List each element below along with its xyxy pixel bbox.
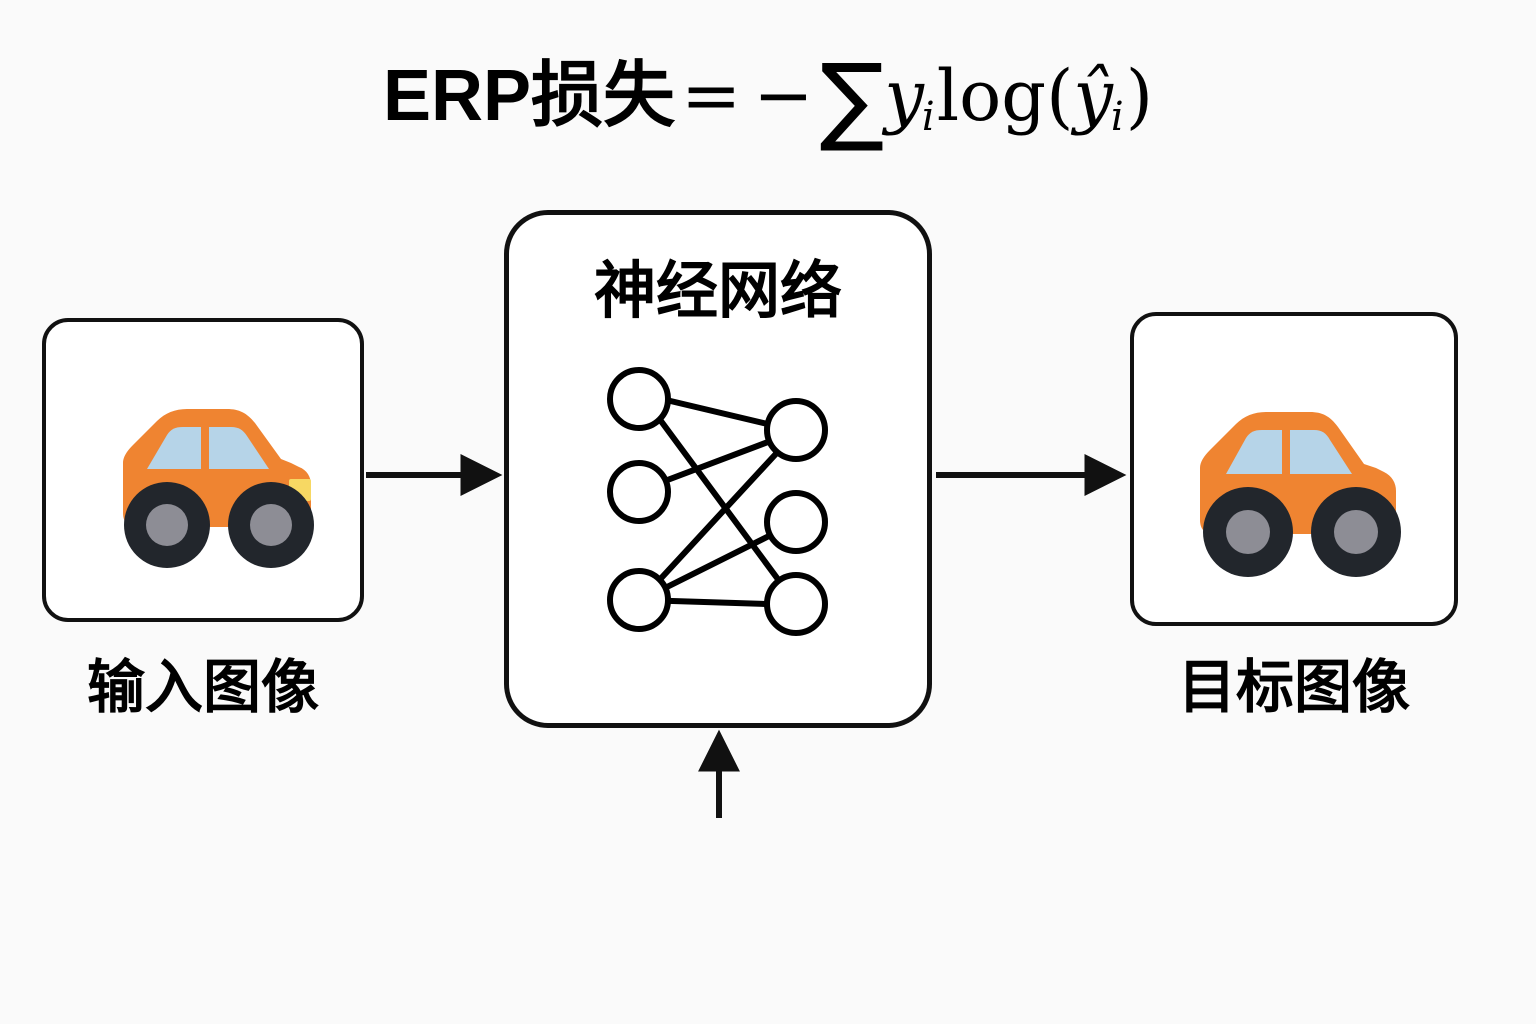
formula-term-y-subscript: i [922, 94, 935, 140]
formula-log: log [937, 55, 1046, 137]
formula-minus: − [747, 53, 819, 137]
input-image-caption: 输入图像 [42, 640, 364, 724]
formula-term-yhat-subscript: i [1111, 94, 1124, 140]
neural-network-title: 神经网络 [504, 240, 932, 330]
formula-prefix-zh: 损失 [531, 53, 675, 137]
target-image-panel [1130, 312, 1458, 626]
diagram-canvas: ERP损失=−∑yilog(ŷi) 神经网络 [0, 0, 1536, 1024]
formula-equals: = [675, 53, 747, 137]
target-image-caption: 目标图像 [1130, 640, 1458, 724]
formula-term-y: y [884, 55, 924, 137]
formula-prefix-latin: ERP [383, 56, 531, 136]
formula-paren-close: ) [1126, 55, 1153, 137]
input-image-panel [42, 318, 364, 622]
formula-paren-open: ( [1046, 55, 1073, 137]
loss-formula: ERP损失=−∑yilog(ŷi) [0, 36, 1536, 141]
summation-icon: ∑ [820, 43, 885, 155]
formula-term-yhat: ŷ [1073, 55, 1113, 137]
